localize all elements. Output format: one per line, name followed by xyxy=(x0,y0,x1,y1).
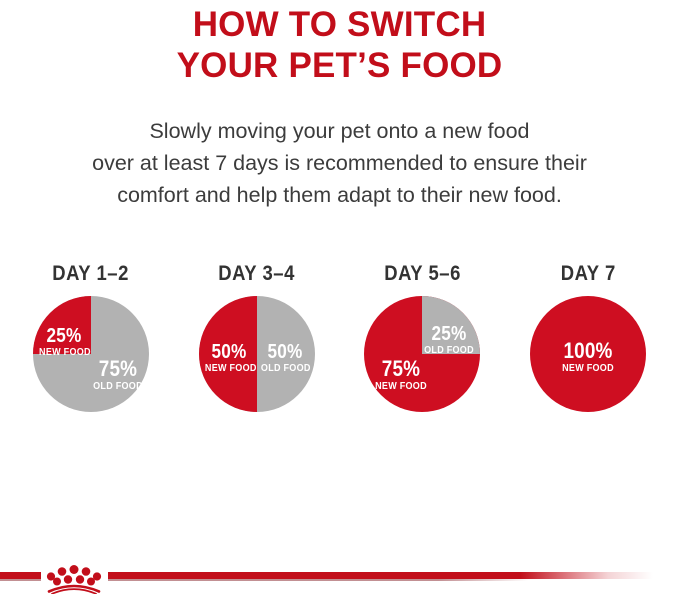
pie-2-slice-new-food xyxy=(199,296,257,412)
pie-1-slice-new-food xyxy=(33,296,91,354)
page-title-line-2: YOUR PET’S FOOD xyxy=(0,45,679,86)
pie-chart-3-svg xyxy=(364,296,480,412)
pie-chart-2-svg xyxy=(199,296,315,412)
footer-rule-right-shadow xyxy=(108,579,528,581)
pie-chart-4: 100% NEW FOOD xyxy=(530,296,646,412)
footer-rule-right xyxy=(108,572,670,579)
day-label-2: DAY 3–4 xyxy=(218,262,295,286)
royal-canin-crown-logo-icon xyxy=(40,560,108,594)
page-title-line-1: HOW TO SWITCH xyxy=(0,4,679,45)
pie-chart-1: 25% NEW FOOD 75% OLD FOOD xyxy=(33,296,149,412)
pie-chart-1-svg xyxy=(33,296,149,412)
pie-chart-4-svg xyxy=(530,296,646,412)
intro-paragraph: Slowly moving your pet onto a new food o… xyxy=(0,115,679,211)
day-label-4: DAY 7 xyxy=(560,262,615,286)
pie-block-day-5-6: DAY 5–6 75% NEW FOOD 25% OLD FOOD xyxy=(343,262,501,437)
pie-chart-3: 75% NEW FOOD 25% OLD FOOD xyxy=(364,296,480,412)
intro-line-2: over at least 7 days is recommended to e… xyxy=(0,147,679,179)
footer xyxy=(0,560,679,594)
page-title: HOW TO SWITCH YOUR PET’S FOOD xyxy=(0,4,679,86)
intro-line-3: comfort and help them adapt to their new… xyxy=(0,179,679,211)
pie-chart-2: 50% NEW FOOD 50% OLD FOOD xyxy=(199,296,315,412)
pie-4-slice-new-food xyxy=(530,296,646,412)
intro-line-1: Slowly moving your pet onto a new food xyxy=(0,115,679,147)
footer-rule-left-shadow xyxy=(0,579,41,581)
day-label-3: DAY 5–6 xyxy=(384,262,461,286)
footer-rule-left xyxy=(0,572,41,579)
pie-block-day-3-4: DAY 3–4 50% NEW FOOD 50% OLD FOOD xyxy=(178,262,336,437)
pie-3-slice-old-food xyxy=(422,296,480,354)
pie-block-day-7: DAY 7 100% NEW FOOD xyxy=(509,262,667,437)
pie-block-day-1-2: DAY 1–2 25% NEW FOOD 75% OLD FOOD xyxy=(12,262,170,437)
day-label-1: DAY 1–2 xyxy=(53,262,130,286)
pie-chart-row: DAY 1–2 25% NEW FOOD 75% OLD FOOD DAY 3–… xyxy=(0,262,679,437)
